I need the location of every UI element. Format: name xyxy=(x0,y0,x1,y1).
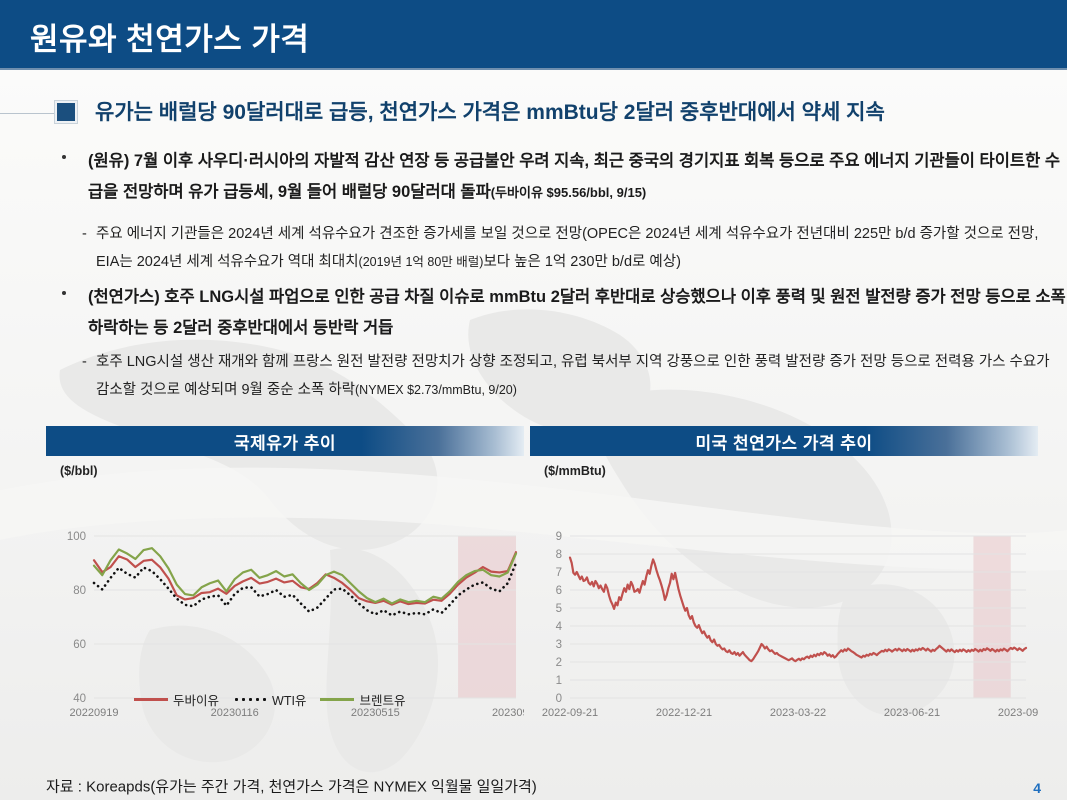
chart-unit-oil: ($/bbl) xyxy=(60,464,524,478)
subbullet-gas-tail: (NYMEX $2.73/mmBtu, 9/20) xyxy=(355,383,517,397)
x-axis-tick: 20230911 xyxy=(492,707,524,719)
legend-item: 브렌트유 xyxy=(320,690,405,709)
chart-unit-gas: ($/mmBtu) xyxy=(544,464,1038,478)
page-title: 원유와 천연가스 가격 xyxy=(30,14,309,59)
headline-text: 유가는 배럴당 90달러대로 급등, 천연가스 가격은 mmBtu당 2달러 중… xyxy=(95,96,885,130)
subbullet-dash-icon: - xyxy=(82,220,87,248)
bullet-oil: (원유) 7월 이후 사우디·러시아의 자발적 감산 연장 등 공급불안 우려 … xyxy=(40,146,1067,208)
subbullet-oil-tail: 보다 높은 1억 230만 b/d로 예상) xyxy=(483,254,680,270)
bullet-gas-text: (천연가스) 호주 LNG시설 파업으로 인한 공급 차질 이슈로 mmBtu … xyxy=(88,282,1067,344)
subbullet-gas-text: 호주 LNG시설 생산 재개와 함께 프랑스 원전 발전량 전망치가 상향 조정… xyxy=(96,348,1060,404)
y-axis-tick: 2 xyxy=(556,657,562,669)
chart-title-oil: 국제유가 추이 xyxy=(46,426,524,456)
subbullet-gas-main: 호주 LNG시설 생산 재개와 함께 프랑스 원전 발전량 전망치가 상향 조정… xyxy=(96,354,1050,398)
bullet-oil-text: (원유) 7월 이후 사우디·러시아의 자발적 감산 연장 등 공급불안 우려 … xyxy=(88,146,1067,208)
headline-square-bullet-icon xyxy=(55,101,77,123)
legend-label: 두바이유 xyxy=(173,690,219,709)
subbullet-oil: - 주요 에너지 기관들은 2024년 세계 석유수요가 견조한 증가세를 보일… xyxy=(60,220,1060,276)
y-axis-tick: 60 xyxy=(73,639,86,651)
bullet-oil-tail: (두바이유 $95.56/bbl, 9/15) xyxy=(491,185,647,200)
y-axis-tick: 9 xyxy=(556,531,562,543)
headline-row: 유가는 배럴당 90달러대로 급등, 천연가스 가격은 mmBtu당 2달러 중… xyxy=(0,96,1067,132)
series-line xyxy=(94,552,516,604)
legend-label: WTI유 xyxy=(272,690,306,709)
series-line xyxy=(570,558,1026,662)
x-axis-tick: 2022-09-21 xyxy=(542,707,598,719)
bullet-dot-icon xyxy=(62,291,66,295)
chart-panel-oil: 국제유가 추이 ($/bbl) 406080100202209192023011… xyxy=(46,426,524,756)
x-axis-tick: 2023-09-20 xyxy=(998,707,1038,719)
chart-title-gas: 미국 천연가스 가격 추이 xyxy=(530,426,1038,456)
subbullet-oil-text: 주요 에너지 기관들은 2024년 세계 석유수요가 견조한 증가세를 보일 것… xyxy=(96,220,1060,276)
legend-swatch-icon xyxy=(320,698,354,701)
headline-rule xyxy=(0,113,55,114)
y-axis-tick: 80 xyxy=(73,585,86,597)
source-note: 자료 : Koreapds(유가는 주간 가격, 천연가스 가격은 NYMEX … xyxy=(46,776,537,797)
plot-area-gas: 01234567892022-09-212022-12-212023-03-22… xyxy=(530,478,1038,748)
slide: 원유와 천연가스 가격 유가는 배럴당 90달러대로 급등, 천연가스 가격은 … xyxy=(0,0,1067,800)
y-axis-tick: 5 xyxy=(556,603,562,615)
y-axis-tick: 6 xyxy=(556,585,562,597)
legend-swatch-icon xyxy=(233,698,267,701)
y-axis-tick: 0 xyxy=(556,693,562,705)
y-axis-tick: 100 xyxy=(67,531,86,543)
chart-legend: 두바이유WTI유브렌트유 xyxy=(134,690,405,709)
highlight-band xyxy=(973,536,1010,698)
y-axis-tick: 8 xyxy=(556,549,562,561)
legend-item: WTI유 xyxy=(233,690,306,709)
y-axis-tick: 7 xyxy=(556,567,562,579)
x-axis-tick: 2022-12-21 xyxy=(656,707,712,719)
y-axis-tick: 3 xyxy=(556,639,562,651)
bullet-dot-icon xyxy=(62,155,66,159)
chart-panel-gas: 미국 천연가스 가격 추이 ($/mmBtu) 01234567892022-0… xyxy=(530,426,1038,756)
subbullet-oil-tiny: (2019년 1억 80만 배럴) xyxy=(359,255,484,269)
x-axis-tick: 2023-03-22 xyxy=(770,707,826,719)
y-axis-tick: 4 xyxy=(556,621,563,633)
plot-gas-svg: 01234567892022-09-212022-12-212023-03-22… xyxy=(530,478,1038,748)
subbullet-dash-icon: - xyxy=(82,348,87,376)
legend-swatch-icon xyxy=(134,698,168,701)
bullet-gas: (천연가스) 호주 LNG시설 파업으로 인한 공급 차질 이슈로 mmBtu … xyxy=(40,282,1067,344)
legend-item: 두바이유 xyxy=(134,690,219,709)
y-axis-tick: 40 xyxy=(73,693,86,705)
subbullet-gas: - 호주 LNG시설 생산 재개와 함께 프랑스 원전 발전량 전망치가 상향 … xyxy=(60,348,1060,404)
y-axis-tick: 1 xyxy=(556,675,562,687)
legend-label: 브렌트유 xyxy=(359,690,405,709)
slide-header: 원유와 천연가스 가격 xyxy=(0,0,1067,70)
x-axis-tick: 2023-06-21 xyxy=(884,707,940,719)
page-number: 4 xyxy=(1033,780,1041,796)
x-axis-tick: 20220919 xyxy=(70,707,119,719)
highlight-band xyxy=(458,536,516,698)
